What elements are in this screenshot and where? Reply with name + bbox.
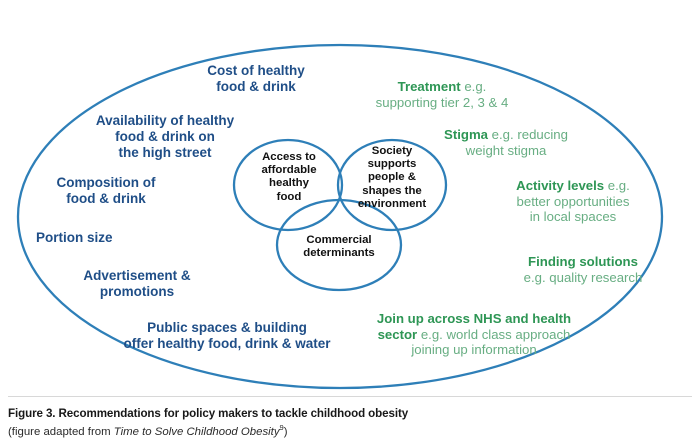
caption-source: (figure adapted from Time to Solve Child… bbox=[8, 420, 692, 438]
blue-item-portion-size: Portion size bbox=[36, 230, 156, 246]
green-item-activity-levels: Activity levels e.g. better opportunitie… bbox=[486, 163, 660, 225]
blue-item-cost: Cost of healthy food & drink bbox=[186, 63, 326, 95]
caption-title: Figure 3. Recommendations for policy mak… bbox=[8, 399, 692, 420]
blue-item-composition: Composition of food & drink bbox=[38, 175, 174, 207]
figure-caption: Figure 3. Recommendations for policy mak… bbox=[8, 399, 692, 438]
venn-label-commercial: Commercial determinants bbox=[286, 234, 392, 260]
blue-item-public-spaces: Public spaces & building offer healthy f… bbox=[104, 320, 350, 352]
green-item-stigma: Stigma e.g. reducing weight stigma bbox=[418, 112, 594, 158]
green-keyword-finding-solutions: Finding solutions bbox=[528, 254, 638, 269]
green-body-join-up: e.g. world class approach joining up inf… bbox=[411, 327, 570, 357]
caption-source-title: Time to Solve Childhood Obesity bbox=[114, 426, 280, 438]
blue-item-advertisement: Advertisement & promotions bbox=[62, 268, 212, 300]
green-item-join-up: Join up across NHS and health sector e.g… bbox=[358, 296, 590, 358]
green-item-finding-solutions: Finding solutions e.g. quality research bbox=[500, 239, 666, 285]
caption-source-prefix: (figure adapted from bbox=[8, 426, 114, 438]
caption-source-suffix: ) bbox=[284, 426, 288, 438]
figure-container: Access to affordable healthy food Societ… bbox=[0, 0, 700, 445]
venn-label-access: Access to affordable healthy food bbox=[244, 151, 334, 204]
green-item-treatment: Treatment e.g. supporting tier 2, 3 & 4 bbox=[352, 64, 532, 110]
green-body-finding-solutions: e.g. quality research bbox=[524, 270, 643, 285]
caption-divider bbox=[8, 396, 692, 397]
green-keyword-stigma: Stigma bbox=[444, 127, 488, 142]
green-keyword-treatment: Treatment bbox=[398, 79, 461, 94]
green-keyword-activity-levels: Activity levels bbox=[516, 178, 604, 193]
blue-item-availability: Availability of healthy food & drink on … bbox=[81, 113, 249, 160]
